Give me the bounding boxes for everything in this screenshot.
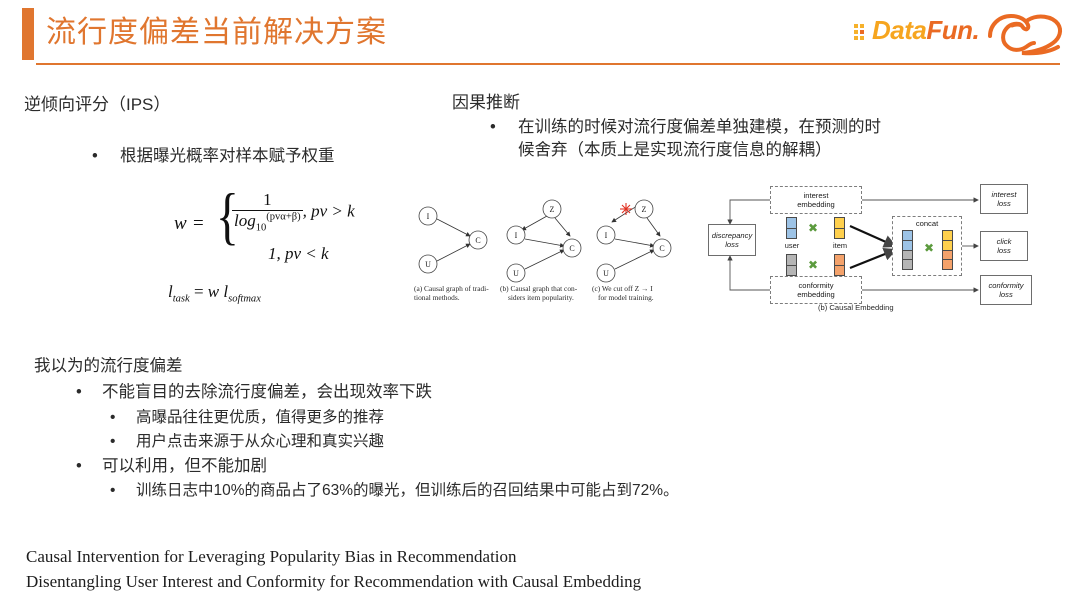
click-loss-l1: click [997,237,1012,246]
interest-loss-l2: loss [997,199,1011,208]
conformity-embedding-box: conformity embedding [770,276,862,304]
page-title: 流行度偏差当前解决方案 [46,8,387,58]
bullet-marker [76,383,98,402]
bullet-marker [110,409,132,427]
causal-graphs-figure: I U C Z I U C [412,192,684,308]
formula-task-lhs-sub: task [173,293,190,304]
lower-l2-b: 用户点击来源于从众心理和真实兴趣 [110,429,384,451]
reference-1: Causal Intervention for Leveraging Popul… [26,547,517,567]
user-vector-label: user [776,241,808,250]
formula-log: log [234,211,256,230]
graph-c-caption-l1: (c) We cut off Z → I [592,284,653,293]
slide-root: 流行度偏差当前解决方案 DataFun. 逆倾向评分（IPS） 根据曝光概率对样… [0,0,1080,608]
concat-label: concat [916,219,938,228]
lower-l1-a-label: 不能盲目的去除流行度偏差，会出现效率下跌 [102,383,432,401]
lower-l2-a: 高曝品往往更优质，值得更多的推荐 [110,405,384,427]
graph-a-caption: (a) Causal graph of tradi- tional method… [414,284,498,302]
interest-embedding-l2: embedding [797,200,835,209]
svg-text:U: U [513,269,519,278]
svg-text:I: I [427,212,430,221]
ips-bullet-1: 根据曝光概率对样本赋予权重 [92,142,335,166]
graph-b-caption-l1: (b) Causal graph that con- [500,284,577,293]
interest-loss-box: interest loss [980,184,1028,214]
svg-text:U: U [425,260,431,269]
causal-bullet-1-line2: 候舍弃（本质上是实现流行度信息的解耦） [518,136,832,160]
item-conformity-vector [834,254,845,276]
graph-b-caption: (b) Causal graph that con- siders item p… [500,284,588,302]
concat-user-vector [902,230,913,270]
graph-a: I U C [419,207,487,273]
svg-text:C: C [475,236,480,245]
red-x-marker [620,203,632,215]
conformity-loss-l2: loss [999,290,1013,299]
ips-bullet-1-label: 根据曝光概率对样本赋予权重 [120,147,335,165]
bullet-marker [490,118,512,137]
graph-a-caption-l2: tional methods. [414,293,460,302]
user-conformity-vector [786,254,797,276]
lower-l2-a-label: 高曝品往往更优质，值得更多的推荐 [136,409,384,426]
conformity-loss-box: conformity loss [980,275,1032,305]
formula-case-1-cond: , pv > k [303,202,355,221]
datafun-logo: DataFun. [854,10,1064,62]
lower-l2-b-label: 用户点击来源于从众心理和真实兴趣 [136,433,384,450]
reference-2: Disentangling User Interest and Conformi… [26,572,641,592]
concat-item-vector [942,230,953,270]
ips-section-title: 逆倾向评分（IPS） [24,90,170,115]
causal-embedding-caption: (b) Causal Embedding [818,303,894,312]
bullet-marker [76,457,98,476]
bullet-marker [92,147,114,166]
graph-c: Z I U C [597,200,671,282]
discrepancy-loss-l2: loss [725,240,739,249]
bullet-marker [110,433,132,451]
svg-text:U: U [603,269,609,278]
graph-b-caption-l2: siders item popularity. [508,293,574,302]
multiply-icon: ✖ [808,259,818,271]
multiply-icon: ✖ [808,222,818,234]
graph-b: Z I U C [507,200,581,282]
click-loss-l2: loss [997,246,1011,255]
conformity-loss-l1: conformity [988,281,1023,290]
logo-wordmark: DataFun. [872,15,979,46]
logo-dots-icon [854,24,870,44]
header-divider [36,63,1060,65]
interest-embedding-l1: interest [804,191,829,200]
conformity-embedding-l2: embedding [797,290,835,299]
interest-embedding-box: interest embedding [770,186,862,214]
graph-c-caption-l2: for model training. [598,293,654,302]
lower-l1-a: 不能盲目的去除流行度偏差，会出现效率下跌 [76,378,432,402]
svg-text:I: I [515,231,518,240]
logo-word-fun: Fun. [926,15,979,45]
formula-w: w [174,213,187,235]
conformity-embedding-l1: conformity [798,281,833,290]
causal-embedding-figure: discrepancy loss interest embedding conf… [690,178,1080,310]
user-interest-vector [786,217,797,239]
svg-text:I: I [605,231,608,240]
datafun-swirl-icon [982,10,1064,62]
item-vector-label: item [824,241,856,250]
item-interest-vector [834,217,845,239]
lower-heading: 我以为的流行度偏差 [34,352,183,376]
formula-task-rhs: w l [208,282,228,301]
slide-header: 流行度偏差当前解决方案 DataFun. [0,0,1080,70]
svg-text:C: C [569,244,574,253]
formula-numerator: 1 [232,190,303,211]
graph-c-caption: (c) We cut off Z → I for model training. [592,284,684,302]
click-loss-box: click loss [980,231,1028,261]
formula-task-loss: ltask = w lsoftmax [168,282,261,304]
causal-bullet-1: 在训练的时候对流行度偏差单独建模，在预测的时 [490,113,881,137]
interest-loss-l1: interest [992,190,1017,199]
svg-text:Z: Z [550,205,555,214]
formula-denominator: log10(pvα+β) [232,211,303,233]
formula-case-2: 1, pv < k [268,244,329,264]
discrepancy-loss-l1: discrepancy [712,231,753,240]
lower-l1-b: 可以利用，但不能加剧 [76,452,267,476]
formula-equals: = [193,213,204,235]
causal-bullet-1-line1: 在训练的时候对流行度偏差单独建模，在预测的时 [518,118,881,136]
lower-l2-c: 训练日志中10%的商品占了63%的曝光，但训练后的召回结果中可能占到72%。 [110,478,679,500]
formula-log-exp: (pvα+β) [266,211,300,222]
formula-task-rhs-sub: softmax [228,293,261,304]
causal-section-title: 因果推断 [452,88,520,113]
lower-l2-c-label: 训练日志中10%的商品占了63%的曝光，但训练后的召回结果中可能占到72%。 [136,482,679,499]
svg-text:Z: Z [642,205,647,214]
logo-word-data: Data [872,15,926,45]
multiply-icon: ✖ [924,242,934,254]
discrepancy-loss-box: discrepancy loss [708,224,756,256]
svg-text:C: C [659,244,664,253]
formula-log-base: 10 [256,222,267,233]
lower-l1-b-label: 可以利用，但不能加剧 [102,457,267,475]
header-accent-bar [22,8,34,60]
graph-a-caption-l1: (a) Causal graph of tradi- [414,284,489,293]
formula-case-1: 1 log10(pvα+β) , pv > k [232,190,355,233]
bullet-marker [110,482,132,500]
